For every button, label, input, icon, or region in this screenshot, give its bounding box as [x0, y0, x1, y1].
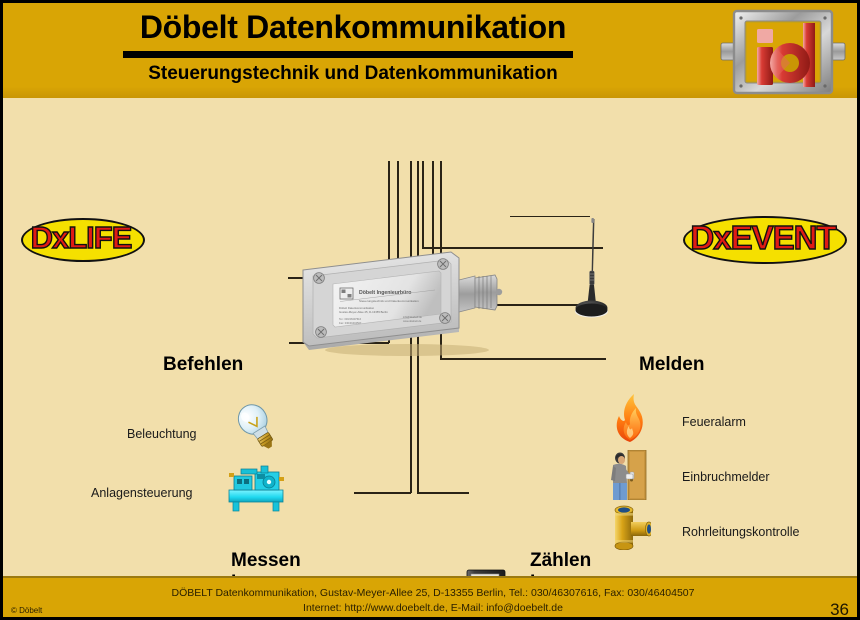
svg-text:Döbelt Ingenieurbüro: Döbelt Ingenieurbüro: [359, 290, 411, 296]
flame-icon: [610, 393, 650, 443]
slide-body: DxLIFE DxEVENT: [3, 98, 860, 576]
wire-messen-horizontal: [354, 492, 411, 494]
title-divider: [123, 51, 573, 58]
label-einbruchmelder: Einbruchmelder: [682, 470, 770, 484]
footer-contact-line: DÖBELT Datenkommunikation, Gustav-Meyer-…: [3, 587, 860, 599]
label-feueralarm: Feueralarm: [682, 415, 746, 429]
svg-text:Fax: 030/46404507: Fax: 030/46404507: [339, 321, 362, 325]
dxlife-text: DxLIFE: [21, 218, 141, 258]
section-heading-zaehlen-line1: Zählen: [530, 550, 599, 572]
burglar-icon: [609, 450, 647, 500]
section-heading-befehlen: Befehlen: [163, 354, 243, 376]
label-anlagensteuerung: Anlagensteuerung: [91, 486, 192, 500]
logo-dxlife: DxLIFE: [21, 218, 141, 258]
lightbulb-icon: [232, 400, 284, 456]
svg-text:Gustav-Meyer-Allee 25, D-13355: Gustav-Meyer-Allee 25, D-13355 Berlin: [339, 310, 388, 314]
label-beleuchtung: Beleuchtung: [127, 427, 197, 441]
pipe-icon: [607, 504, 651, 550]
company-logo-id: [719, 5, 847, 97]
copyright-notice: © Döbelt: [11, 606, 42, 615]
antenna: [563, 216, 619, 324]
slide-header: Döbelt Datenkommunikation Steuerungstech…: [3, 3, 857, 98]
wire-feueralarm-vertical: [422, 161, 424, 248]
wire-zaehlen-horizontal: [417, 492, 469, 494]
page-title: Döbelt Datenkommunikation: [3, 9, 703, 46]
dxevent-text: DxEVENT: [683, 216, 843, 260]
logo-dxevent: DxEVENT: [683, 216, 843, 260]
svg-text:Tel.: 030/46307616: Tel.: 030/46307616: [339, 317, 362, 321]
page-subtitle: Steuerungstechnik und Datenkommunikation: [3, 63, 703, 85]
slide-footer: DÖBELT Datenkommunikation, Gustav-Meyer-…: [3, 576, 860, 620]
wire-rohr-horizontal: [440, 358, 606, 360]
section-heading-melden: Melden: [639, 354, 704, 376]
svg-text:www.doebelt.de: www.doebelt.de: [403, 319, 422, 323]
label-rohrleitungskontrolle: Rohrleitungskontrolle: [682, 525, 799, 539]
svg-text:info@doebelt.de: info@doebelt.de: [403, 315, 422, 319]
machinery-icon: [225, 464, 287, 514]
section-heading-messen-line1: Messen: [231, 550, 301, 572]
page-number: 36: [830, 600, 849, 620]
slide-canvas: Döbelt Datenkommunikation Steuerungstech…: [0, 0, 860, 620]
svg-text:Steuerungstechnik und Datenkom: Steuerungstechnik und Datenkommunikation: [359, 299, 419, 303]
controller-device[interactable]: Döbelt Ingenieurbüro Steuerungstechnik u…: [299, 246, 511, 356]
footer-web-line: Internet: http://www.doebelt.de, E-Mail:…: [3, 602, 860, 614]
